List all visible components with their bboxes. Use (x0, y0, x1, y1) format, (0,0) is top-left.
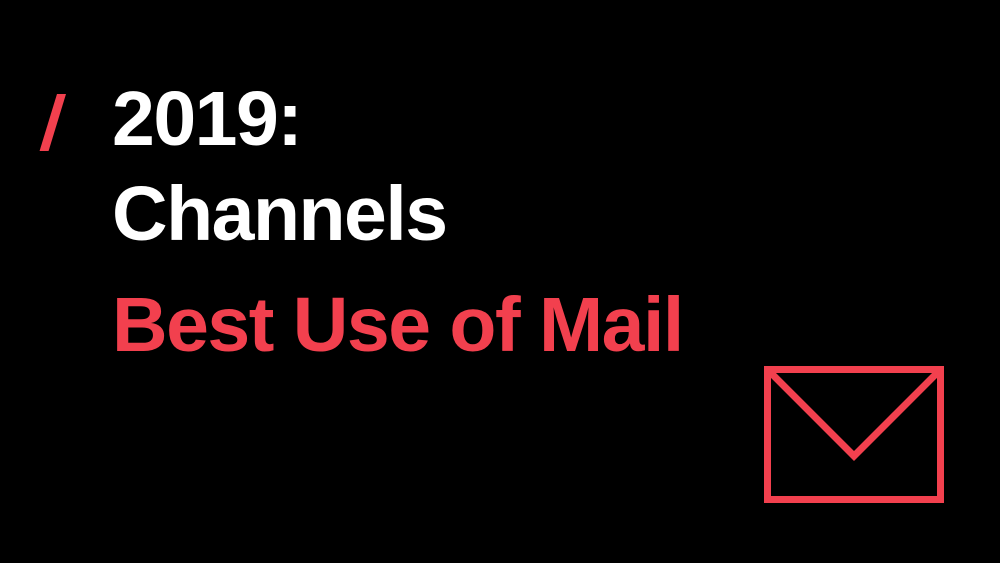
title-block: 2019: Channels Best Use of Mail (112, 72, 872, 373)
page-title-year: 2019: (112, 72, 872, 167)
envelope-icon-graphic (764, 366, 944, 503)
envelope-icon (764, 366, 944, 503)
page-subtitle-award-name: Best Use of Mail (112, 278, 872, 373)
envelope-body-shape (768, 370, 941, 500)
page-title-category-group: Channels (112, 167, 872, 262)
envelope-flap-shape (769, 371, 939, 456)
award-title-slide: 2019: Channels Best Use of Mail (0, 0, 1000, 563)
slash-accent-icon (40, 94, 66, 151)
